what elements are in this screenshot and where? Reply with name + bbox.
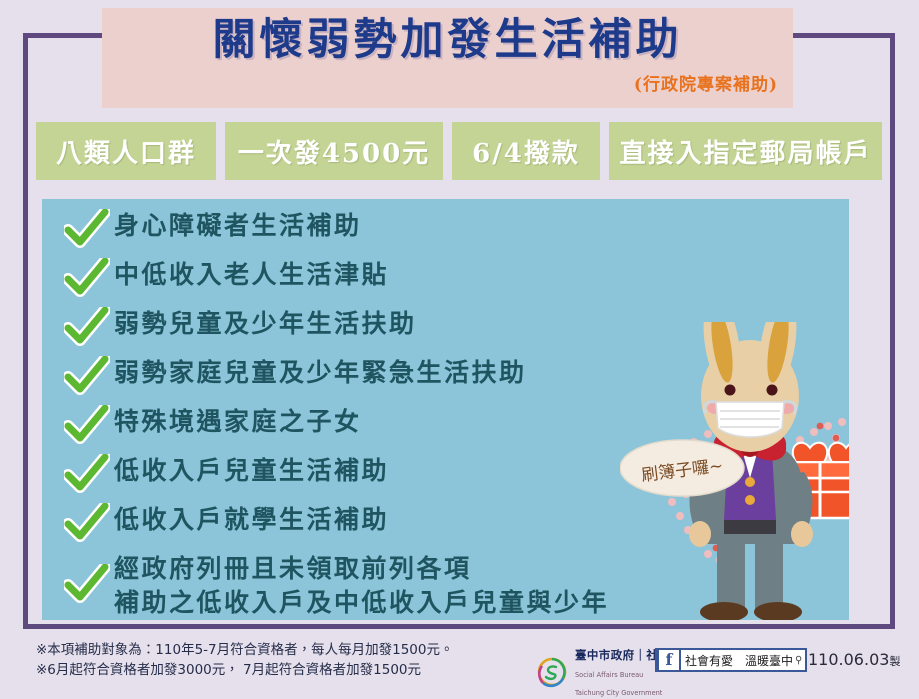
chip-payout-date: 6/4撥款: [452, 122, 600, 180]
list-item-label: 特殊境遇家庭之子女: [114, 401, 362, 439]
search-icon: ⚲: [795, 655, 802, 666]
chip-population-groups: 八類人口群: [36, 122, 216, 180]
chip-amount: 一次發4500元: [225, 122, 443, 180]
org-name-en-line1: Social Affairs Bureau: [575, 671, 643, 679]
check-icon: [60, 307, 114, 349]
check-icon: [60, 564, 114, 606]
rabbit-mascot-illustration: 刷簿子囉~: [620, 322, 849, 620]
date-suffix: 製: [889, 655, 900, 668]
list-item-label: 弱勢兒童及少年生活扶助: [114, 303, 417, 341]
list-item-label: 低收入戶就學生活補助: [114, 499, 389, 537]
speech-bubble: 刷簿子囉~: [620, 440, 744, 496]
check-icon: [60, 503, 114, 545]
list-item-label: 身心障礙者生活補助: [114, 205, 362, 243]
title-banner: 關懷弱勢加發生活補助 (行政院專案補助): [102, 8, 793, 108]
list-item-label: 低收入戶兒童生活補助: [114, 450, 389, 488]
taichung-social-affairs-logo-icon: [536, 656, 568, 688]
list-item-label: 經政府列冊且未領取前列各項 補助之低收入戶及中低收入戶兒童與少年: [114, 548, 609, 620]
list-item-label: 弱勢家庭兒童及少年緊急生活扶助: [114, 352, 527, 390]
list-item-label: 中低收入老人生活津貼: [114, 254, 389, 292]
highlight-chip-row: 八類人口群 一次發4500元 6/4撥款 直接入指定郵局帳戶: [36, 122, 882, 180]
page-title: 關懷弱勢加發生活補助: [102, 14, 793, 68]
date-value: 110.06.03: [808, 650, 889, 669]
check-icon: [60, 405, 114, 447]
check-icon: [60, 258, 114, 300]
facebook-icon: f: [659, 650, 679, 670]
page-subtitle: (行政院專案補助): [634, 70, 778, 95]
footnote-text: ※本項補助對象為：110年5-7月符合資格者，每人每月加發1500元。 ※6月起…: [36, 640, 536, 680]
list-item: 中低收入老人生活津貼: [60, 254, 720, 301]
check-icon: [60, 454, 114, 496]
check-icon: [60, 356, 114, 398]
facebook-page-label: 社會有愛 溫暖臺中: [685, 652, 793, 669]
publication-date: 110.06.03製: [808, 650, 900, 669]
list-item: 身心障礙者生活補助: [60, 205, 720, 252]
poster-root: 關懷弱勢加發生活補助 (行政院專案補助) 八類人口群 一次發4500元 6/4撥…: [0, 0, 919, 696]
facebook-badge[interactable]: f 社會有愛 溫暖臺中 ⚲: [655, 648, 807, 672]
facebook-page-name: 社會有愛 溫暖臺中 ⚲: [681, 650, 805, 670]
check-icon: [60, 209, 114, 251]
chip-delivery-method: 直接入指定郵局帳戶: [609, 122, 882, 180]
eligibility-panel: 身心障礙者生活補助 中低收入老人生活津貼 弱勢兒童及少年生活扶助 弱勢家庭兒童及…: [42, 199, 849, 620]
